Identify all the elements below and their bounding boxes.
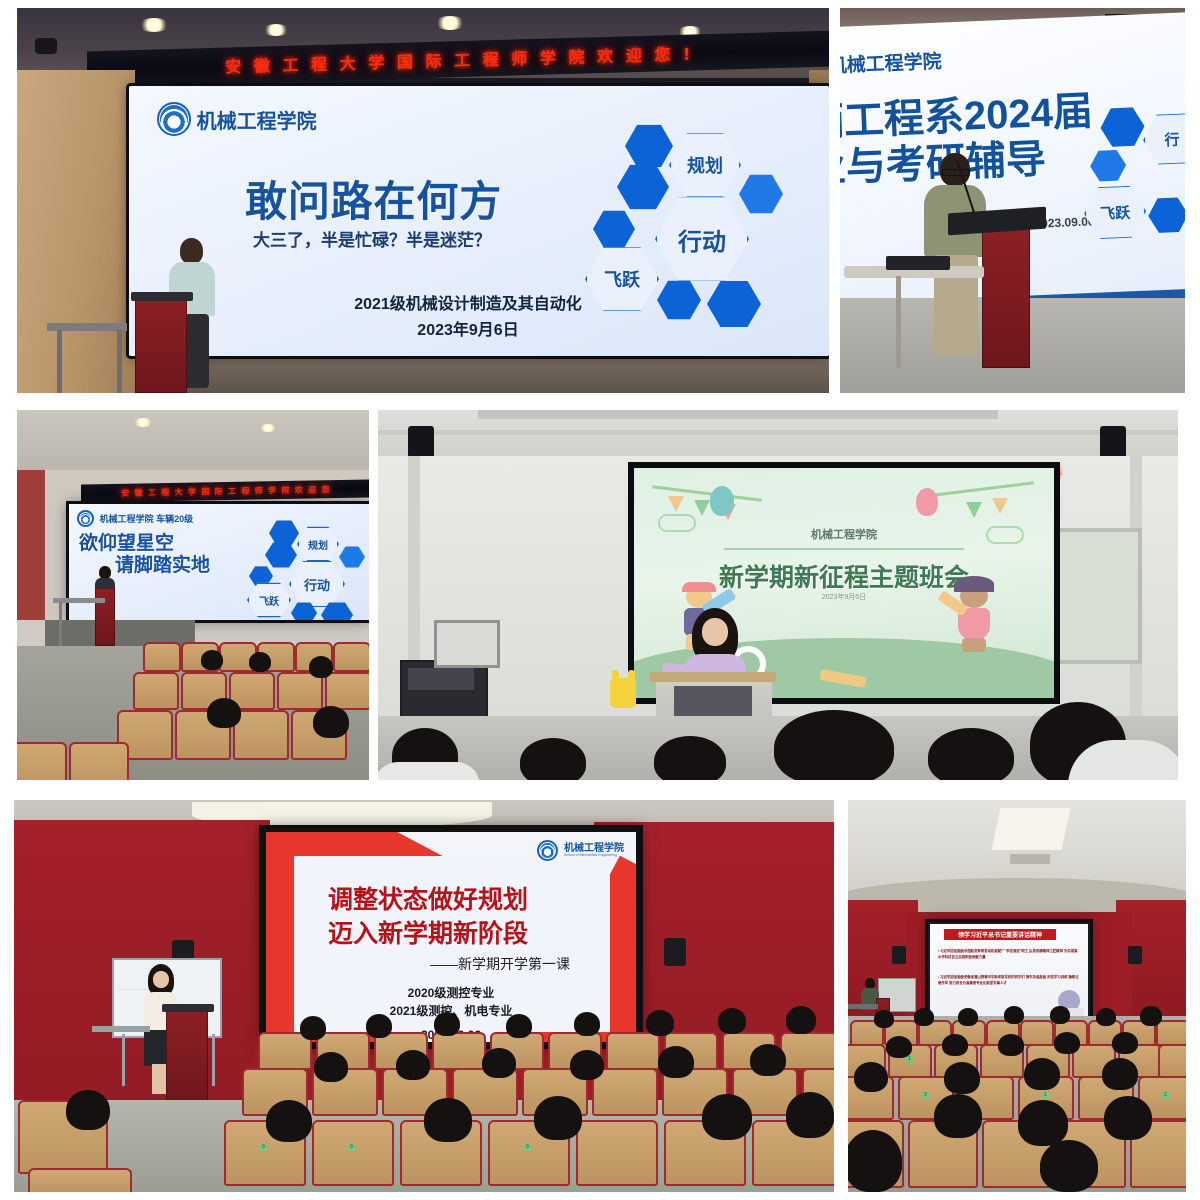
audience-head [570,1050,604,1080]
audience-head [718,1008,746,1034]
hexagon-label: 行 [1164,128,1180,150]
slide-college-row: 机械工程学院 车辆20级 [77,510,193,527]
audience-head [66,1090,110,1130]
seat-number-tag: 9 [524,1144,531,1151]
mascot-toy-icon [610,678,636,708]
audience-head [654,736,726,780]
slide-college-name-en: School of Mechanical Engineering [564,854,624,858]
audience-head [646,1010,674,1036]
side-table-leg [117,330,122,393]
seat [17,742,67,780]
seat [333,642,369,672]
balloon-icon [916,488,938,516]
audience-head [774,710,894,780]
hexagon-solid [625,124,673,168]
audience-head [534,1096,582,1140]
slide-bullet-2: • 习近平回信勉励安徽省潜山野寨中学新考取军校的同学们 铸牢忠诚品格 刻苦学习训… [938,974,1080,987]
college-crest-icon [157,102,191,136]
flag-icon [668,496,684,512]
seat-number-tag: 9 [260,1144,267,1151]
ceiling-light [259,424,277,432]
audience-head [854,1062,888,1092]
hexagon-label: 规划 [687,152,723,178]
slide-college-name: 机械工程学院 车辆20级 [100,512,194,525]
audience-head [702,1094,752,1140]
hexagon-solid [617,164,669,210]
seat [432,1032,486,1070]
slide-title-line1: 调整状态做好规划 [328,880,528,916]
whiteboard-stand-leg [212,1034,215,1086]
photo-top-right[interactable]: 机 工 机械工程学院 辆工程系2024届 业与考研辅导 2023.09.06 行… [840,8,1185,393]
hexagon-cluster: 规划 行动 飞跃 [581,122,811,337]
audience-head [506,1014,532,1038]
wall-speaker [1128,946,1142,964]
podium [95,588,115,646]
slide-college-row: 机械工程学院 [157,102,317,136]
audience-head [1054,1032,1080,1054]
whiteboard-stand-leg [122,1034,125,1086]
seat [233,710,289,760]
lectern-top [162,1004,214,1012]
seat [576,1120,658,1186]
seat-row-front [17,736,137,780]
ceiling-light [139,18,169,32]
child-right-icon [950,580,998,660]
side-wall [17,470,45,620]
audience-head [874,1010,894,1028]
slide-title-line2: 迈入新学期新阶段 [328,914,528,950]
audience-head [424,1098,472,1142]
seat [143,642,181,672]
ceiling-beam [378,430,1178,435]
hexagon-planning: 规划 [669,132,741,198]
hexagon-leap: 飞跃 [1083,184,1147,241]
side-table-leg [59,602,62,646]
audience-head [574,1012,600,1036]
led-banner-text: 安 徽 工 程 大 学 国 际 工 程 师 学 院 欢 迎 您 ! [225,40,694,77]
flag-icon [694,500,710,516]
audience-head [1050,1006,1070,1024]
ceiling-light [133,418,153,427]
audience-head [266,1100,312,1142]
hexagon-solid [593,210,635,248]
seat [780,1032,834,1070]
podium [135,296,187,393]
hexagon-solid [739,174,783,214]
wall-speaker [892,946,906,964]
hexagon-solid [269,520,299,546]
seat: 9 [312,1120,394,1186]
audience-head [1102,1058,1138,1090]
audience-head [249,652,271,672]
hexagon-label: 规划 [308,537,328,552]
photo-mid-center[interactable]: 16:54:04 [378,410,1178,780]
hexagon-label: 飞跃 [1100,201,1131,223]
side-table-leg [57,330,62,393]
audience-head [958,1008,978,1026]
hexagon-solid [339,546,365,568]
college-crest-icon [537,840,558,861]
audience-head [1104,1096,1152,1140]
audience-head [207,698,241,728]
audience-head [1018,1100,1068,1146]
speaker-glasses-icon [942,169,970,176]
hexagon-label: 行动 [304,575,330,594]
speaker-head [180,238,203,264]
wall-speaker [1100,426,1126,458]
audience-head [1024,1058,1060,1090]
slide-bullet-1: • 习近平回信勉励中国航发黎明发动机装配厂"李志强班"职工 弘扬劳模精神工匠精神… [938,948,1080,961]
bunting-right-icon [924,481,1034,497]
seat-number-tag: 9 [348,1144,355,1151]
audience-head [1096,1008,1116,1026]
seat [69,742,129,780]
photo-bottom-left[interactable]: 机械工程学院 School of Mechanical Engineering … [14,800,834,1192]
slide-subtitle: ——新学期开学第一课 [430,954,570,974]
audience-head [482,1048,516,1078]
seat [1158,1044,1186,1078]
seat-left-aisle [28,1168,132,1192]
audience-head [928,728,1014,780]
college-crest-icon [77,510,94,527]
slide-heading: 领学习近平总书记重要讲话精神 [958,930,1042,939]
audience-head [934,1094,982,1138]
audience-head [786,1092,834,1138]
audience-head [434,1012,460,1036]
balloon-icon [710,486,734,516]
slide-heading-bar: 领学习近平总书记重要讲话精神 [944,929,1056,940]
hexagon-label: 飞跃 [604,266,640,292]
slide-title-line2: 请脚踏实地 [115,550,210,577]
hexagon-label: 飞跃 [259,593,279,608]
first-class-slide: 机械工程学院 School of Mechanical Engineering … [266,832,636,1042]
av-monitor [434,620,500,668]
study-speech-slide: 领学习近平总书记重要讲话精神 • 习近平回信勉励中国航发黎明发动机装配厂"李志强… [930,924,1088,1020]
seat [1156,1020,1186,1046]
slide-divider [724,548,964,550]
audience-head [1004,1006,1024,1024]
stage-floor [135,353,829,393]
mascot-toy-ear [612,670,619,682]
audience-head [366,1014,392,1038]
slide-title: 敢问路在何方 [245,168,502,229]
seat-number-tag: 2 [1162,1092,1169,1099]
ceiling-light [263,24,289,36]
photo-mid-left[interactable]: 安 徽 工 程 大 学 国 际 工 程 师 学 院 欢 迎 您 机械工程学院 车… [17,410,369,780]
ceiling-vent [1010,854,1050,864]
audience-head [520,738,586,780]
hexagon-solid [657,280,701,320]
audience-head [942,1034,968,1056]
lectern [166,1008,208,1108]
desk-leg [896,276,901,368]
hexagon-cluster: 行 飞跃 [1080,104,1185,249]
hexagon-solid [707,280,761,328]
audience-head [786,1006,816,1034]
audience-head [658,1046,694,1078]
screen-slide-top-left[interactable]: 机械工程学院 敢问路在何方 大三了，半是忙碌？半是迷茫？ 2021级机械设计制造… [129,86,829,356]
seat [606,1032,660,1070]
ceiling-light-strip [992,808,1071,850]
audience-head [750,1044,786,1076]
side-table [92,1026,150,1032]
audience-head [314,1052,348,1082]
keyboard [886,256,950,270]
mascot-toy-ear [628,670,635,682]
av-rack-panel [408,668,474,690]
slide-college-row: 机械工程学院 School of Mechanical Engineering [537,840,624,861]
seat-number-tag: 3 [922,1092,929,1099]
hexagon-outline: 行 [1142,112,1185,166]
photo-bottom-right[interactable]: 领学习近平总书记重要讲话精神 • 习近平回信勉励中国航发黎明发动机装配厂"李志强… [848,800,1186,1192]
audience-head [886,1036,912,1058]
photo-collage: 安 徽 工 程 大 学 国 际 工 程 师 学 院 欢 迎 您 ! 机械工程学院… [0,0,1200,1200]
hexagon-leap: 飞跃 [247,582,291,618]
photo-top-left[interactable]: 安 徽 工 程 大 学 国 际 工 程 师 学 院 欢 迎 您 ! 机械工程学院… [17,8,829,393]
seat [133,672,179,710]
seat [325,672,369,710]
lectern-top [650,672,776,682]
audience-head [1040,1140,1098,1192]
audience-head [1140,1006,1162,1026]
slide-college-name: 机械工程学院 [634,526,1054,542]
hexagon-solid [1148,196,1185,234]
hexagon-action: 行动 [289,560,345,608]
audience-head [300,1016,326,1040]
audience-head [1112,1032,1138,1054]
hexagon-action: 行动 [655,196,749,282]
audience-head [914,1008,934,1026]
wall-speaker [408,426,434,458]
podium-top [131,292,193,301]
lectern [982,223,1030,368]
slide-college-name: 机械工程学院 [197,105,317,134]
audience-head [998,1034,1024,1056]
seat-number-tag: 1 [1042,1092,1049,1099]
audience-head [848,1130,902,1192]
audience-head [201,650,223,670]
ceiling-camera [35,38,57,54]
hexagon-planning: 规划 [297,526,339,562]
seat-number-tag: 1 [906,1056,913,1063]
hexagon-solid [265,542,297,568]
flag-icon [966,502,982,518]
slide-college-name: 机械工程学院 [840,47,942,79]
audience-head [313,706,349,738]
audience-shoulder [378,762,480,780]
seat [1020,1020,1054,1046]
led-banner-text: 安 徽 工 程 大 学 国 际 工 程 师 学 院 欢 迎 您 [121,484,330,499]
audience-head [944,1062,980,1094]
side-table [848,1004,878,1009]
lecturer-face [153,971,169,988]
hexagon-solid [1089,149,1126,182]
audience-head [396,1050,430,1080]
slide-audience-line1: 2020级测控专业 [266,984,636,1001]
ceiling-beam [478,410,998,419]
ceiling-light [435,16,465,30]
hexagon-label: 行动 [678,222,726,257]
presenter-face [702,618,728,646]
hexagon-solid [1100,106,1146,148]
seat [592,1068,658,1116]
slide-subtitle: 大三了，半是忙碌？半是迷茫？ [253,226,491,251]
wall-speaker [664,938,686,966]
audience-head [309,656,333,678]
hexagon-leap: 飞跃 [585,246,659,312]
flag-icon [992,498,1008,514]
hexagon-cluster: 规划 行动 飞跃 [251,520,369,616]
